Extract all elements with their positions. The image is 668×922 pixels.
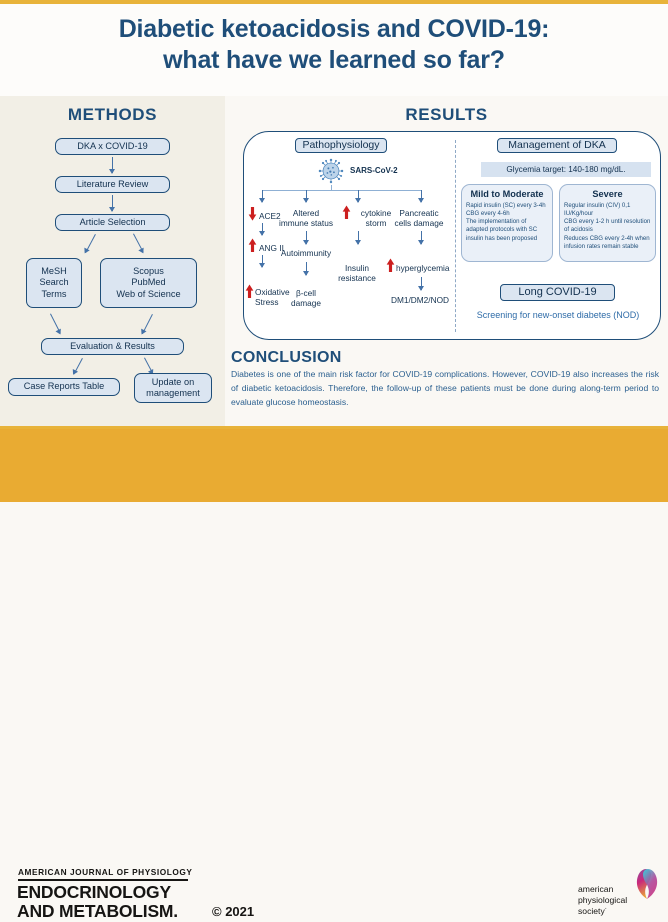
pancreatic-line-1: Pancreatic — [388, 208, 450, 218]
journal-title-line-2: AND METABOLISM. — [17, 901, 178, 922]
label-hyperglycemia: hyperglycemia — [396, 263, 450, 273]
insulin-line-1: Insulin — [332, 263, 382, 273]
mild-heading: Mild to Moderate — [466, 189, 548, 199]
society-line-2: physiological — [578, 895, 636, 906]
tree-bus-horizontal — [262, 190, 422, 191]
glycemia-target-band: Glycemia target: 140-180 mg/dL. — [481, 162, 651, 177]
society-line-3: society˙ — [578, 906, 636, 917]
methods-box-update-management: Update on management — [134, 373, 212, 403]
tree-arrow-1 — [259, 190, 266, 202]
title-line-2: what have we learned so far? — [30, 45, 638, 76]
coronavirus-icon — [318, 158, 344, 184]
update-line-1: Update on — [146, 377, 200, 389]
label-insulin-resistance: Insulin resistance — [332, 263, 382, 284]
title-band: Diabetic ketoacidosis and COVID-19: what… — [0, 4, 668, 96]
management-tag: Management of DKA — [497, 138, 617, 153]
methods-box-article-selection: Article Selection — [55, 214, 170, 231]
methods-box-dka-covid: DKA x COVID-19 — [55, 138, 170, 155]
aps-loop-logo-icon — [634, 866, 660, 900]
red-down-arrow-ace2 — [248, 207, 257, 221]
severe-heading: Severe — [564, 189, 651, 199]
pathophysiology-tag: Pathophysiology — [295, 138, 387, 153]
conclusion-text: Diabetes is one of the main risk factor … — [231, 368, 659, 410]
mesh-line-3: Terms — [39, 289, 68, 301]
virus-label: SARS-CoV-2 — [350, 166, 398, 175]
update-line-2: management — [146, 388, 200, 400]
arrow-autoimmunity-to-bcell — [303, 262, 310, 275]
society-line-1: american — [578, 884, 636, 895]
red-up-arrow-hyperglycemia — [386, 258, 395, 272]
mild-line-2: CBG every 4-6h — [466, 210, 548, 218]
altered-line-2: immune status — [272, 218, 340, 228]
graphical-abstract: Diabetic ketoacidosis and COVID-19: what… — [0, 0, 668, 502]
arrow-down-2 — [109, 195, 116, 211]
tree-bus-stem — [331, 185, 332, 191]
methods-box-literature-review: Literature Review — [55, 176, 170, 193]
methods-box-mesh-terms: MeSH Search Terms — [26, 258, 82, 308]
journal-title-line-1: ENDOCRINOLOGY — [17, 882, 171, 903]
arrow-ang2-to-oxidative — [259, 255, 266, 267]
copyright-notice: © 2021 — [212, 904, 254, 919]
label-pancreatic-damage: Pancreatic cells damage — [388, 208, 450, 229]
mild-line-1: Rapid insulin (SC) every 3-4h — [466, 202, 548, 210]
insulin-line-2: resistance — [332, 273, 382, 283]
tree-arrow-4 — [418, 190, 425, 202]
bcell-line-1: β-cell — [272, 288, 340, 298]
severity-box-mild-to-moderate: Mild to Moderate Rapid insulin (SC) ever… — [461, 184, 553, 262]
label-autoimmunity: Autoimmunity — [272, 248, 340, 258]
tree-arrow-3 — [355, 190, 362, 202]
bcell-line-2: damage — [272, 298, 340, 308]
methods-box-databases: Scopus PubMed Web of Science — [100, 258, 197, 308]
mild-line-3: The implementation of adapted protocols … — [466, 218, 548, 242]
arrow-ace2-to-ang2 — [259, 223, 266, 235]
red-up-arrow-ang2 — [248, 238, 257, 252]
severe-line-2: CBG every 1-2 h until resolution of acid… — [564, 218, 651, 234]
methods-box-case-reports-table: Case Reports Table — [8, 378, 120, 396]
label-bcell-damage: β-cell damage — [272, 288, 340, 309]
mesh-line-2: Search — [39, 277, 68, 289]
society-name: american physiological society˙ — [578, 884, 636, 917]
arrow-pancreas-to-hyperglycemia — [418, 231, 425, 244]
results-vertical-divider — [455, 140, 456, 332]
screening-text: Screening for new-onset diabetes (NOD) — [463, 310, 653, 320]
page-title: Diabetic ketoacidosis and COVID-19: what… — [30, 14, 638, 75]
title-line-1: Diabetic ketoacidosis and COVID-19: — [30, 14, 638, 45]
red-up-arrow-cytokine-storm — [342, 205, 351, 219]
pancreatic-line-2: cells damage — [388, 218, 450, 228]
methods-heading: METHODS — [0, 105, 225, 125]
results-heading: RESULTS — [225, 105, 668, 125]
arrow-down-1 — [109, 157, 116, 173]
database-line-2: PubMed — [116, 277, 180, 289]
database-line-1: Scopus — [116, 266, 180, 278]
arrow-hyperglycemia-to-dm — [418, 277, 425, 290]
label-dm-types: DM1/DM2/NOD — [386, 295, 454, 305]
label-altered-immune: Altered immune status — [272, 208, 340, 229]
methods-box-evaluation-results: Evaluation & Results — [41, 338, 184, 355]
red-up-arrow-oxidative-stress — [245, 284, 254, 298]
arrow-immune-to-autoimmunity — [303, 231, 310, 244]
long-covid-tag: Long COVID-19 — [500, 284, 615, 301]
arrow-cytokine-to-insulin — [355, 231, 362, 244]
severe-line-1: Regular insulin (CIV) 0,1 IU/Kg/hour — [564, 202, 651, 218]
conclusion-heading: CONCLUSION — [231, 349, 342, 367]
database-line-3: Web of Science — [116, 289, 180, 301]
mesh-line-1: MeSH — [39, 266, 68, 278]
tree-arrow-2 — [303, 190, 310, 202]
severity-box-severe: Severe Regular insulin (CIV) 0,1 IU/Kg/h… — [559, 184, 656, 262]
journal-kicker: AMERICAN JOURNAL OF PHYSIOLOGY — [18, 867, 192, 877]
altered-line-1: Altered — [272, 208, 340, 218]
severe-line-3: Reduces CBG every 2-4h when infusion rat… — [564, 235, 651, 251]
journal-footer: AMERICAN JOURNAL OF PHYSIOLOGY ENDOCRINO… — [0, 429, 668, 502]
